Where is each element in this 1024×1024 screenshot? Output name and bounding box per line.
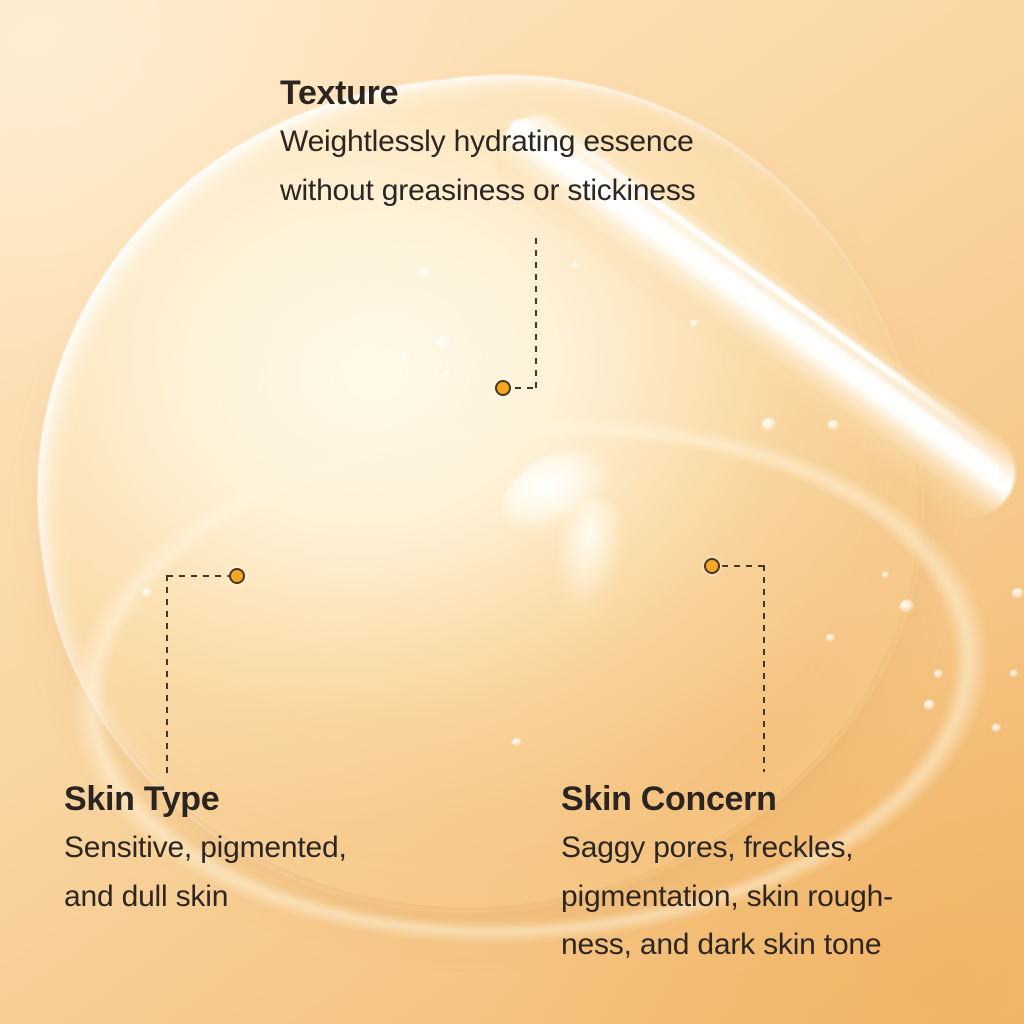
texture-leader-horizontal [515, 387, 537, 389]
texture-heading: Texture [280, 74, 695, 112]
skin-concern-callout-dot[interactable] [704, 558, 720, 574]
texture-body-line: Weightlessly hydrating essence [280, 118, 695, 167]
callout-texture: Texture Weightlessly hydrating essence w… [280, 74, 695, 215]
infographic-canvas: Texture Weightlessly hydrating essence w… [0, 0, 1024, 1024]
skin-type-heading: Skin Type [64, 780, 347, 818]
texture-body: Weightlessly hydrating essence without g… [280, 118, 695, 215]
skin-concern-body: Saggy pores, freckles, pigmentation, ski… [561, 824, 893, 970]
skin-type-callout-dot[interactable] [229, 568, 245, 584]
skin-type-leader-horizontal [167, 575, 235, 577]
skin-type-body-line: Sensitive, pigmented, [64, 824, 347, 873]
skin-type-leader-vertical [166, 575, 168, 776]
skin-concern-body-line: ness, and dark skin tone [561, 921, 893, 970]
skin-type-body: Sensitive, pigmented, and dull skin [64, 824, 347, 921]
skin-concern-body-line: Saggy pores, freckles, [561, 824, 893, 873]
skin-type-body-line: and dull skin [64, 873, 347, 922]
texture-body-line: without greasiness or stickiness [280, 167, 695, 216]
callout-skin-type: Skin Type Sensitive, pigmented, and dull… [64, 780, 347, 921]
texture-callout-dot[interactable] [495, 380, 511, 396]
skin-concern-leader-vertical [763, 565, 765, 772]
skin-concern-leader-horizontal [722, 565, 765, 567]
skin-concern-body-line: pigmentation, skin rough- [561, 873, 893, 922]
skin-concern-heading: Skin Concern [561, 780, 893, 818]
callout-skin-concern: Skin Concern Saggy pores, freckles, pigm… [561, 780, 893, 970]
texture-leader-vertical [535, 238, 537, 388]
